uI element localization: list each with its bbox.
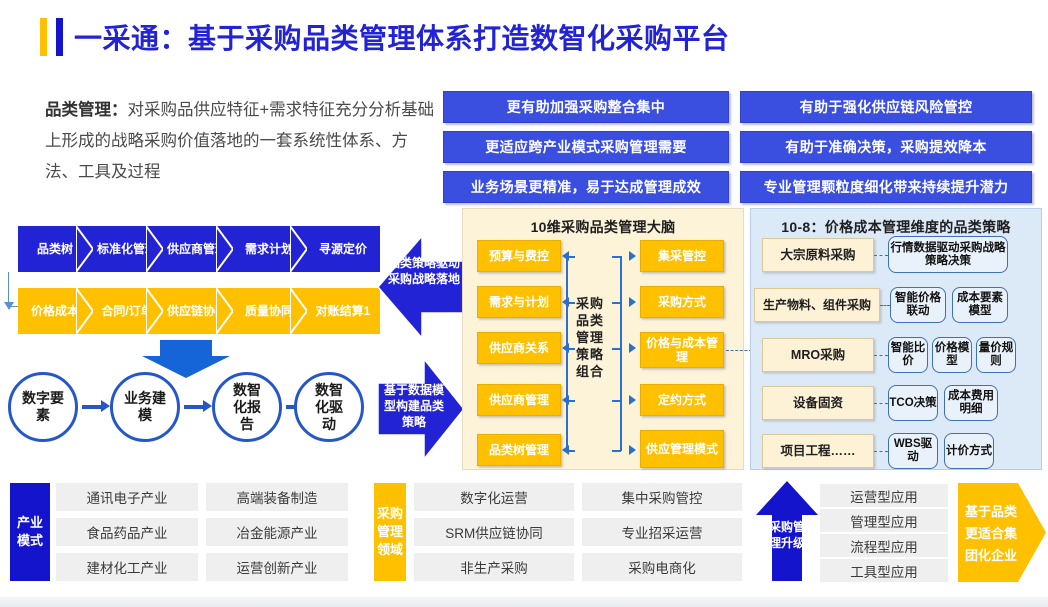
right-tag-2-1[interactable]: 智能价格联动 (890, 287, 946, 323)
center-right-box-5[interactable]: 供应管理模式 (640, 430, 724, 468)
upgrade-cell-3[interactable]: 流程型应用 (820, 534, 948, 557)
right-dash-5 (874, 451, 888, 452)
circle-1-label: 数字要素 (22, 390, 64, 424)
industry-cell-1-1[interactable]: 通讯电子产业 (56, 483, 198, 511)
circle-2-label: 业务建模 (124, 390, 166, 424)
industry-cell-3-1[interactable]: 建材化工产业 (56, 553, 198, 581)
bottom-label-industry-text: 产业模式 (16, 514, 44, 550)
center-left-box-1[interactable]: 预算与费控 (477, 240, 561, 272)
center-left-arrow-icon (562, 445, 569, 455)
center-right-box-4[interactable]: 定约方式 (640, 384, 724, 416)
center-right-box-3[interactable]: 价格与成本管理 (640, 332, 724, 368)
upgrade-cell-1[interactable]: 运营型应用 (820, 484, 948, 507)
conclusion-text: 基于品类更适合集团化企业 (962, 501, 1020, 567)
slide-canvas: 一采通：基于采购品类管理体系打造数智化采购平台 品类管理：对采购品供应特征+需求… (0, 0, 1048, 607)
chevron-bottom-3-label: 供应链协同 (167, 304, 227, 318)
circle-connector-2 (184, 405, 204, 409)
down-arrow-icon (142, 340, 230, 378)
domain-cell-2-2[interactable]: 专业招采运营 (582, 518, 742, 546)
chevron-bottom-5[interactable]: 对账结算1 (306, 288, 380, 334)
industry-cell-1-2[interactable]: 高端装备制造 (206, 483, 348, 511)
right-arrow-label: 基于数据模型构建品类策略 (383, 382, 445, 430)
right-tag-3-1[interactable]: 智能比价 (888, 337, 928, 373)
right-tag-5-1[interactable]: WBS驱动 (888, 433, 938, 469)
center-right-arrow-icon (629, 297, 636, 307)
chevron-notch-icon (76, 226, 93, 272)
right-tag-3-2[interactable]: 价格模型 (932, 337, 972, 373)
banner-right-1[interactable]: 有助于强化供应链风险管控 (740, 91, 1032, 123)
left-arrow-icon (378, 228, 466, 346)
chevron-row-top: 品类树 标准化管理 供应商管理 需求计划 寻源定价 (18, 226, 380, 272)
chevron-bottom-2[interactable]: 合同/订单 (92, 288, 162, 334)
chevron-bottom-2-label: 合同/订单 (101, 304, 152, 318)
domain-cell-1-2[interactable]: 集中采购管控 (582, 483, 742, 511)
chevron-top-2[interactable]: 标准化管理 (92, 226, 162, 272)
center-left-arrow-icon (562, 343, 569, 353)
domain-cell-2-1[interactable]: SRM供应链协同 (414, 518, 574, 546)
right-dash-2 (880, 305, 890, 306)
circle-arrowhead-icon (101, 400, 110, 412)
circle-4-label: 数智化驱动 (309, 382, 349, 433)
center-right-arrow-icon (629, 251, 636, 261)
right-category-5[interactable]: 项目工程…… (762, 434, 874, 468)
chevron-top-3[interactable]: 供应商管理 (162, 226, 232, 272)
chevron-row-bottom: 价格成本 合同/订单 供应链协同 质量协同 对账结算1 (18, 288, 380, 334)
right-category-2[interactable]: 生产物料、组件采购 (754, 288, 880, 322)
left-strategy-arrow[interactable] (378, 228, 466, 351)
industry-cell-3-2[interactable]: 运营创新产业 (206, 553, 348, 581)
circle-3-label: 数智化报告 (227, 382, 267, 433)
industry-cell-2-1[interactable]: 食品药品产业 (56, 518, 198, 546)
center-right-branch-1 (612, 256, 621, 258)
center-right-branch-4 (612, 400, 621, 402)
circle-2[interactable]: 业务建模 (110, 372, 180, 442)
domain-cell-3-1[interactable]: 非生产采购 (414, 553, 574, 581)
intro-paragraph: 品类管理：对采购品供应特征+需求特征充分分析基础上形成的战略采购价值落地的一套系… (45, 95, 435, 188)
industry-cell-2-2[interactable]: 冶金能源产业 (206, 518, 348, 546)
right-tag-3-3[interactable]: 量价规则 (976, 337, 1016, 373)
chevron-top-5[interactable]: 寻源定价 (306, 226, 380, 272)
domain-cell-1-1[interactable]: 数字化运营 (414, 483, 574, 511)
center-left-box-2[interactable]: 需求与计划 (477, 286, 561, 318)
center-strategy-label: 采购品类管理策略组合 (566, 295, 614, 380)
right-tag-2-2[interactable]: 成本要素模型 (952, 287, 1008, 323)
right-dash-1 (874, 255, 888, 256)
circle-1[interactable]: 数字要素 (8, 372, 78, 442)
chevron-top-1[interactable]: 品类树 (18, 226, 92, 272)
center-right-arrow-icon (629, 445, 636, 455)
chevron-bottom-5-label: 对账结算1 (316, 304, 371, 318)
banner-left-1[interactable]: 更有助加强采购整合集中 (443, 91, 729, 123)
chevron-top-2-label: 标准化管理 (97, 242, 157, 256)
center-right-box-2[interactable]: 采购方式 (640, 286, 724, 318)
chevron-top-3-label: 供应商管理 (167, 242, 227, 256)
center-left-box-4[interactable]: 供应商管理 (477, 384, 561, 416)
conclusion-label: 基于品类更适合集团化企业 (962, 501, 1024, 567)
banner-left-2[interactable]: 更适应跨产业模式采购管理需要 (443, 131, 729, 163)
center-right-branch-3 (612, 348, 621, 350)
chevron-top-1-label: 品类树 (37, 242, 73, 256)
left-arrow-label: 品类策略驱动采购战略落地 (388, 255, 460, 287)
center-right-spine (620, 256, 622, 451)
circle-3[interactable]: 数智化报告 (212, 372, 282, 442)
right-dash-4 (874, 403, 888, 404)
center-left-box-3[interactable]: 供应商关系 (477, 332, 561, 364)
bottom-label-industry[interactable]: 产业模式 (10, 483, 50, 581)
center-right-arrow-icon (629, 395, 636, 405)
upgrade-arrow-label: 采购管理升级 (763, 519, 811, 551)
chevron-top-4[interactable]: 需求计划 (232, 226, 306, 272)
center-left-spine (566, 256, 568, 451)
title-accent-orange-bar (40, 18, 47, 56)
center-left-box-5[interactable]: 品类树管理 (477, 434, 561, 466)
center-strategy-text: 采购品类管理策略组合 (570, 295, 610, 380)
right-category-1[interactable]: 大宗原料采购 (762, 238, 874, 272)
right-tag-4-1[interactable]: TCO决策 (888, 385, 938, 421)
chevron-top-5-label: 寻源定价 (319, 242, 367, 256)
title-text: 一采通：基于采购品类管理体系打造数智化采购平台 (74, 17, 730, 57)
banner-left-3[interactable]: 业务场景更精准，易于达成管理成效 (443, 171, 729, 203)
center-left-arrow-icon (562, 251, 569, 261)
footer-strip (0, 597, 1048, 607)
center-right-branch-2 (612, 302, 621, 304)
center-right-branch-5 (612, 450, 621, 452)
panel-link-dash (726, 350, 752, 351)
page-title: 一采通：基于采购品类管理体系打造数智化采购平台 (40, 17, 730, 57)
circle-4[interactable]: 数智化驱动 (294, 372, 364, 442)
chevron-bottom-4[interactable]: 质量协同 (232, 288, 306, 334)
right-dash-3 (874, 355, 888, 356)
upgrade-cell-4[interactable]: 工具型应用 (820, 559, 948, 582)
chevron-bottom-3[interactable]: 供应链协同 (162, 288, 232, 334)
right-tag-4-2[interactable]: 成本费用明细 (944, 385, 998, 421)
banner-right-3[interactable]: 专业管理颗粒度细化带来持续提升潜力 (740, 171, 1032, 203)
right-tag-5-2[interactable]: 计价方式 (944, 433, 994, 469)
chevron-bottom-1[interactable]: 价格成本 (18, 288, 92, 334)
right-category-4[interactable]: 设备固资 (762, 386, 874, 420)
domain-cell-3-2[interactable]: 采购电商化 (582, 553, 742, 581)
chevron-bottom-4-label: 质量协同 (245, 304, 293, 318)
chevron-top-4-label: 需求计划 (245, 242, 293, 256)
center-panel-title: 10维采购品类管理大脑 (463, 217, 743, 237)
right-category-3[interactable]: MRO采购 (762, 338, 874, 372)
chevron-bottom-1-label: 价格成本 (31, 304, 79, 318)
circle-arrowhead-icon (203, 400, 212, 412)
banner-right-2[interactable]: 有助于准确决策，采购提效降本 (740, 131, 1032, 163)
intro-label: 品类管理： (45, 101, 128, 119)
upgrade-cell-2[interactable]: 管理型应用 (820, 509, 948, 532)
left-arrow-text: 品类策略驱动采购战略落地 (388, 255, 460, 287)
center-left-arrow-icon (562, 395, 569, 405)
circle-connector-1 (82, 405, 102, 409)
bottom-label-domain-text: 采购管理领域 (377, 505, 403, 559)
title-accent-blue-bar (56, 18, 63, 56)
right-arrow-text: 基于数据模型构建品类策略 (383, 382, 445, 430)
right-tag-1-1[interactable]: 行情数据驱动采购战略策略决策 (888, 236, 1008, 273)
center-right-arrow-icon (629, 343, 636, 353)
bottom-label-domain[interactable]: 采购管理领域 (374, 483, 406, 581)
center-right-box-1[interactable]: 集采管控 (640, 240, 724, 272)
right-panel-title: 10-8：价格成本管理维度的品类策略 (751, 217, 1041, 237)
upgrade-arrow-text: 采购管理升级 (767, 519, 807, 551)
chevron-connector-arrow-icon (4, 302, 14, 310)
center-left-arrow-icon (562, 297, 569, 307)
